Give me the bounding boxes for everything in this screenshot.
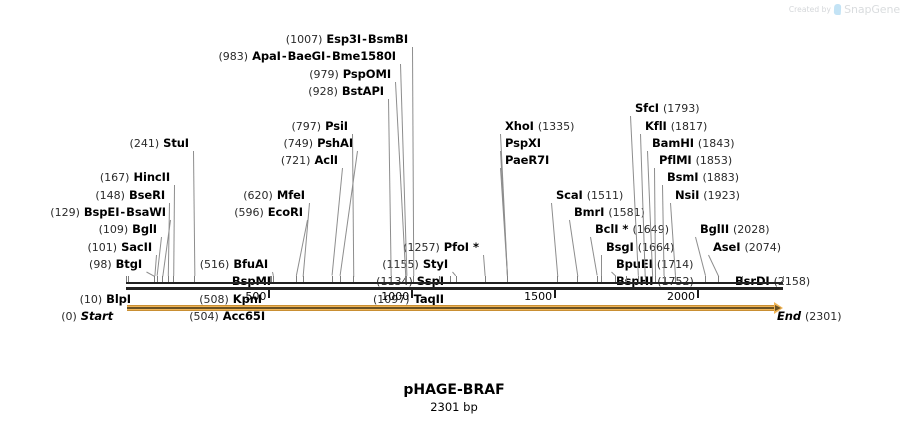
enzyme-name-pspomi-0: PspOMI <box>343 67 391 81</box>
enzyme-position-asei: (2074) <box>744 241 781 254</box>
enzyme-name-esp3i-bsmbi-1: BsmBI <box>368 32 408 46</box>
enzyme-label-pfoi[interactable]: (1257)PfoI * <box>403 241 479 254</box>
enzyme-label-xhoi[interactable]: XhoI(1335) <box>505 120 574 133</box>
enzyme-name-bglii-0: BglII <box>700 222 729 236</box>
enzyme-name-nsii-0: NsiI <box>675 188 699 202</box>
enzyme-position-pfoi: (1257) <box>403 241 440 254</box>
enzyme-name-bspei-bsawi-0: BspEI <box>84 205 119 219</box>
enzyme-label-btgi[interactable]: (98)BtgI <box>89 258 142 271</box>
enzyme-name-bsmi-0: BsmI <box>667 170 698 184</box>
enzyme-name-bclii-0: BclI <box>595 222 618 236</box>
plasmid-title: pHAGE-BRAF <box>0 382 908 398</box>
enzyme-label-pspxi[interactable]: PspXI <box>505 137 541 150</box>
enzyme-label-start[interactable]: (0)Start <box>61 310 113 323</box>
enzyme-label-mfei[interactable]: (620)MfeI <box>243 189 305 202</box>
enzyme-position-nsii: (1923) <box>703 189 740 202</box>
enzyme-label-nsii[interactable]: NsiI(1923) <box>675 189 740 202</box>
enzyme-label-bsmi[interactable]: BsmI(1883) <box>667 171 739 184</box>
enzyme-label-bstapi[interactable]: (928)BstAPI <box>308 85 384 98</box>
enzyme-label-ecori[interactable]: (596)EcoRI <box>234 206 303 219</box>
enzyme-name-start-0: Start <box>81 309 113 323</box>
methylation-asterisk-pfoi: * <box>469 240 479 254</box>
enzyme-name-pshai-0: PshAI <box>317 136 353 150</box>
enzyme-label-apai-baegi-bme1580i[interactable]: (983)ApaI-BaeGI-Bme1580I <box>218 50 396 63</box>
leader-line-bsgi <box>601 255 602 276</box>
enzyme-label-asei[interactable]: AseI(2074) <box>713 241 781 254</box>
enzyme-name-bpuei-0: BpuEI <box>616 257 653 271</box>
enzyme-position-pflmi: (1853) <box>696 154 733 167</box>
enzyme-position-end: (2301) <box>805 310 842 323</box>
watermark-brand-label: SnapGene <box>844 3 900 16</box>
enzyme-name-bseri-0: BseRI <box>129 188 165 202</box>
enzyme-position-bfuai: (516) <box>200 258 230 271</box>
enzyme-position-acli: (721) <box>281 154 311 167</box>
enzyme-name-pflmi-0: PflMI <box>659 153 692 167</box>
enzyme-position-scai: (1511) <box>587 189 624 202</box>
enzyme-position-start: (0) <box>61 310 77 323</box>
enzyme-name-hincii-0: HincII <box>133 170 170 184</box>
backbone-rail-top <box>126 282 784 284</box>
plasmid-size-label: 2301 bp <box>0 400 908 414</box>
enzyme-position-xhoi: (1335) <box>538 120 575 133</box>
enzyme-label-pshai[interactable]: (749)PshAI <box>283 137 353 150</box>
enzyme-name-taqii-0: TaqII <box>414 292 444 306</box>
enzyme-position-bstapi: (928) <box>308 85 338 98</box>
ruler-tick-2000 <box>697 290 699 298</box>
enzyme-name-sfci-0: SfcI <box>635 101 659 115</box>
enzyme-name-styi-0: StyI <box>423 257 448 271</box>
enzyme-name-ecori-0: EcoRI <box>268 205 303 219</box>
enzyme-position-stui: (241) <box>130 137 160 150</box>
enzyme-name-apai-baegi-bme1580i-2: Bme1580I <box>332 49 396 63</box>
enzyme-position-bamhi: (1843) <box>698 137 735 150</box>
enzyme-label-stui[interactable]: (241)StuI <box>130 137 189 150</box>
ruler-label-1500: 1500 <box>524 290 552 303</box>
enzyme-label-bspei-bsawi[interactable]: (129)BspEI-BsaWI <box>50 206 166 219</box>
enzyme-name-apai-baegi-bme1580i-1: BaeGI <box>288 49 326 63</box>
enzyme-name-mfei-0: MfeI <box>277 188 305 202</box>
enzyme-label-bclii[interactable]: BclI *(1649) <box>595 223 669 236</box>
ruler-label-2000: 2000 <box>667 290 695 303</box>
enzyme-label-bgli[interactable]: (109)BglI <box>99 223 157 236</box>
enzyme-position-psii: (797) <box>292 120 322 133</box>
methylation-asterisk-bclii: * <box>618 222 628 236</box>
enzyme-label-paer7i[interactable]: PaeR7I <box>505 154 549 167</box>
enzyme-name-separator: - <box>325 49 332 63</box>
enzyme-name-btgi-0: BtgI <box>116 257 142 271</box>
enzyme-position-esp3i-bsmbi: (1007) <box>286 33 323 46</box>
enzyme-position-pspomi: (979) <box>309 68 339 81</box>
enzyme-position-bglii: (2028) <box>733 223 770 236</box>
enzyme-name-bfuai-0: BfuAI <box>233 257 268 271</box>
enzyme-name-separator: - <box>281 49 288 63</box>
enzyme-label-scai[interactable]: ScaI(1511) <box>556 189 623 202</box>
enzyme-label-pflmi[interactable]: PflMI(1853) <box>659 154 732 167</box>
enzyme-position-bsmi: (1883) <box>702 171 739 184</box>
enzyme-label-hincii[interactable]: (167)HincII <box>100 171 170 184</box>
enzyme-name-esp3i-bsmbi-0: Esp3I <box>326 32 361 46</box>
snapgene-watermark: Created by SnapGene <box>789 3 900 16</box>
enzyme-position-bgli: (109) <box>99 223 129 236</box>
enzyme-name-kfli-0: KflI <box>645 119 667 133</box>
enzyme-position-sacii: (101) <box>87 241 117 254</box>
enzyme-name-separator: - <box>361 32 368 46</box>
enzyme-position-bmri: (1581) <box>608 206 645 219</box>
enzyme-position-kpni: (508) <box>199 293 229 306</box>
enzyme-name-blpi-0: BlpI <box>106 292 131 306</box>
enzyme-name-pfoi-0: PfoI <box>444 240 469 254</box>
ruler-tick-1000 <box>411 290 413 298</box>
enzyme-label-acc65i[interactable]: (504)Acc65I <box>189 310 265 323</box>
enzyme-name-paer7i-0: PaeR7I <box>505 153 549 167</box>
enzyme-position-acc65i: (504) <box>189 310 219 323</box>
enzyme-name-scai-0: ScaI <box>556 188 583 202</box>
enzyme-name-apai-baegi-bme1580i-0: ApaI <box>252 49 281 63</box>
enzyme-position-pshai: (749) <box>283 137 313 150</box>
enzyme-position-hincii: (167) <box>100 171 130 184</box>
restriction-site-tick-2301 <box>783 276 784 282</box>
orf-arrow-head-core-icon <box>775 305 781 311</box>
orf-arrow-core <box>127 307 776 309</box>
enzyme-position-btgi: (98) <box>89 258 112 271</box>
enzyme-name-bmri-0: BmrI <box>574 205 604 219</box>
enzyme-name-acli-0: AclI <box>314 153 338 167</box>
watermark-created-by-label: Created by <box>789 5 831 14</box>
enzyme-position-kfli: (1817) <box>671 120 708 133</box>
enzyme-name-bsgi-0: BsgI <box>606 240 634 254</box>
enzyme-name-bgli-0: BglI <box>132 222 157 236</box>
enzyme-position-mfei: (620) <box>243 189 273 202</box>
enzyme-label-blpi[interactable]: (10)BlpI <box>80 293 131 306</box>
enzyme-label-bseri[interactable]: (148)BseRI <box>95 189 165 202</box>
enzyme-name-psii-0: PsiI <box>325 119 348 133</box>
enzyme-name-pspxi-0: PspXI <box>505 136 541 150</box>
enzyme-position-bseri: (148) <box>95 189 125 202</box>
enzyme-label-kfli[interactable]: KflI(1817) <box>645 120 707 133</box>
enzyme-label-bfuai[interactable]: (516)BfuAI <box>200 258 268 271</box>
enzyme-label-esp3i-bsmbi[interactable]: (1007)Esp3I-BsmBI <box>286 33 408 46</box>
enzyme-label-styi[interactable]: (1155)StyI <box>382 258 448 271</box>
enzyme-label-end[interactable]: End(2301) <box>777 310 842 323</box>
enzyme-label-sacii[interactable]: (101)SacII <box>87 241 152 254</box>
ruler-label-500: 500 <box>238 290 266 303</box>
enzyme-position-bspei-bsawi: (129) <box>50 206 80 219</box>
enzyme-position-sfci: (1793) <box>663 102 700 115</box>
enzyme-label-acli[interactable]: (721)AclI <box>281 154 338 167</box>
enzyme-name-bstapi-0: BstAPI <box>342 84 384 98</box>
enzyme-label-psii[interactable]: (797)PsiI <box>292 120 349 133</box>
enzyme-label-sfci[interactable]: SfcI(1793) <box>635 102 700 115</box>
enzyme-label-bamhi[interactable]: BamHI(1843) <box>652 137 735 150</box>
enzyme-name-sacii-0: SacII <box>121 240 152 254</box>
snapgene-logo-icon <box>834 4 842 15</box>
enzyme-position-ecori: (596) <box>234 206 264 219</box>
enzyme-name-asei-0: AseI <box>713 240 740 254</box>
enzyme-name-stui-0: StuI <box>163 136 189 150</box>
enzyme-name-bamhi-0: BamHI <box>652 136 694 150</box>
enzyme-label-bglii[interactable]: BglII(2028) <box>700 223 770 236</box>
ruler-label-1000: 1000 <box>381 290 409 303</box>
enzyme-name-xhoi-0: XhoI <box>505 119 534 133</box>
ruler-tick-500 <box>268 290 270 298</box>
ruler-tick-1500 <box>554 290 556 298</box>
enzyme-position-blpi: (10) <box>80 293 103 306</box>
enzyme-label-pspomi[interactable]: (979)PspOMI <box>309 68 391 81</box>
enzyme-name-bspei-bsawi-1: BsaWI <box>126 205 166 219</box>
enzyme-position-apai-baegi-bme1580i: (983) <box>218 50 248 63</box>
